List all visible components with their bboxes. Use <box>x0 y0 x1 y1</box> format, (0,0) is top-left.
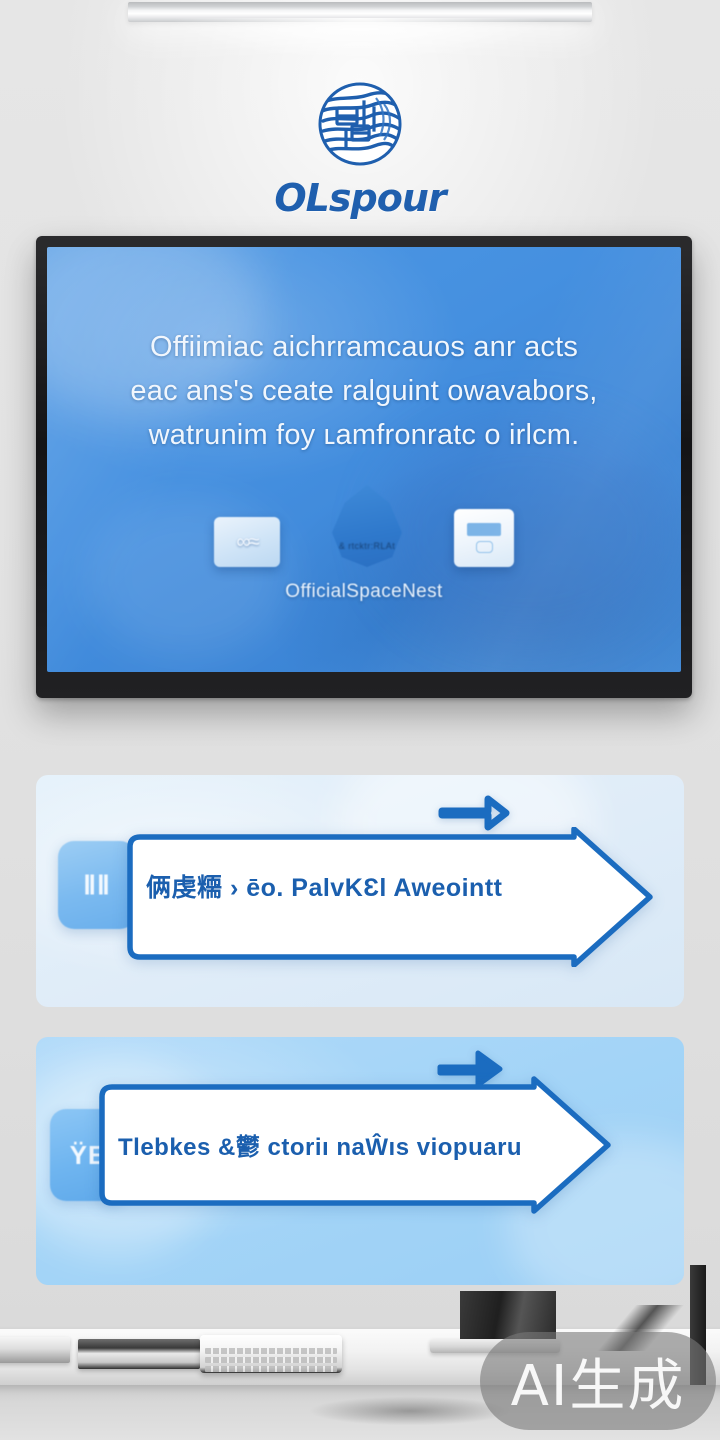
brand-seal-icon <box>314 78 406 170</box>
banner-1-label: 俩虔糥 › ēo. PalvKƐl Aweointt <box>146 868 502 904</box>
keyboard-keys <box>205 1348 337 1373</box>
brand-block: OLspour <box>0 78 720 220</box>
headline-line-3: watrunim foy ʟamfronratc o irlcm. <box>81 413 647 457</box>
device-display <box>467 523 501 536</box>
ceiling-light-glow <box>110 18 610 74</box>
ceiling-light-fixture <box>128 2 592 22</box>
room-scene: OLspour Offiimiac aichrramcauos anr acts… <box>0 0 720 1440</box>
water-drop-icon: & rtcktr:RLAt <box>332 485 402 567</box>
banner-2-label: Tlebkes &鬱 ctoriı naŴıs viopuaru <box>118 1127 522 1162</box>
banner-card-2: ŸΕ Tlebkes &鬱 ctoriı naŴıs viopuaru <box>36 1037 684 1285</box>
side-icon-glyph-1: ⅡⅡ <box>83 870 111 901</box>
dark-notebook-icon <box>78 1339 200 1369</box>
notebook-stack-icon <box>0 1337 70 1363</box>
headline-line-2: eac ans's ceate ralguint owavabors, <box>81 369 647 413</box>
keyboard-icon <box>200 1335 342 1373</box>
screen-icon-row: ∞≈ & rtcktr:RLAt <box>47 485 681 567</box>
cloud-sync-glyph: ∞≈ <box>236 531 257 554</box>
device-knob <box>476 541 493 553</box>
screen-caption: OfficialSpaceNest <box>47 581 681 603</box>
brand-wordmark: OLspour <box>0 176 720 220</box>
smart-device-icon <box>454 509 514 567</box>
wall-mounted-tv: Offiimiac aichrramcauos anr acts eac ans… <box>36 236 692 698</box>
water-drop-label: & rtcktr:RLAt <box>339 541 395 551</box>
watermark-text: AI生成 <box>511 1341 686 1422</box>
headline-line-1: Offiimiac aichrramcauos anr acts <box>81 325 647 369</box>
banner-card-1: ⅡⅡ 俩虔糥 › ēo. PalvKƐl Aweointt <box>36 775 684 1007</box>
tv-screen: Offiimiac aichrramcauos anr acts eac ans… <box>47 247 681 672</box>
ai-generated-watermark: AI生成 <box>480 1332 716 1430</box>
screen-headline: Offiimiac aichrramcauos anr acts eac ans… <box>81 325 647 457</box>
cloud-sync-icon: ∞≈ <box>214 517 280 567</box>
